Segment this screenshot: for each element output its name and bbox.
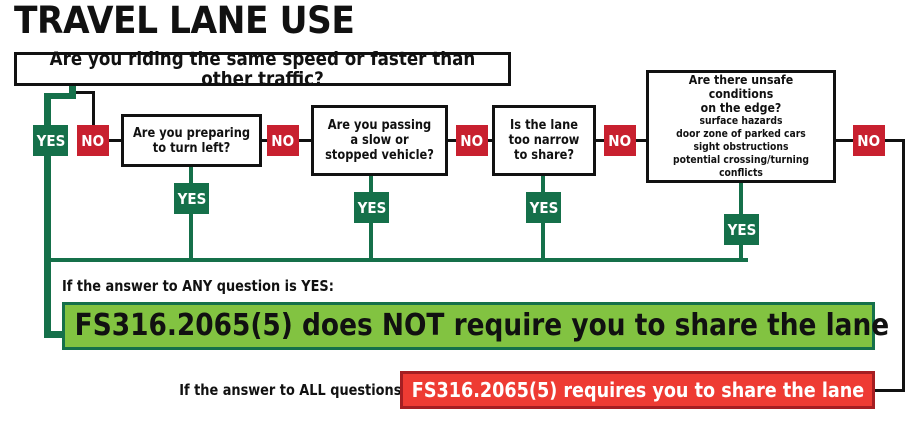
- flowchart-canvas: TRAVEL LANE USE Are you riding the same …: [0, 0, 920, 431]
- no-badge-unsafe-conditions[interactable]: NO: [853, 125, 885, 156]
- yes-badge-unsafe-conditions[interactable]: YES: [724, 214, 759, 245]
- unsafe-heading-line2: on the edge?: [660, 101, 822, 115]
- no-badge-label: NO: [858, 132, 881, 150]
- connector-right-rail-to-red-banner: [872, 389, 905, 392]
- connector-q4-to-no4: [834, 139, 855, 142]
- outcome-banner-required: FS316.2065(5) requires you to share the …: [400, 371, 875, 409]
- no-badge-label: NO: [609, 132, 632, 150]
- no-badge-label: NO: [461, 132, 484, 150]
- outcome-text-not-required: FS316.2065(5) does NOT require you to sh…: [65, 310, 889, 342]
- question-text-lane-narrow-line1: Is the lane: [501, 118, 587, 133]
- no-badge-lane-narrow[interactable]: NO: [604, 125, 636, 156]
- no-badge-speed[interactable]: NO: [77, 125, 109, 156]
- no-badge-passing[interactable]: NO: [456, 125, 488, 156]
- unsafe-heading-line1: Are there unsafe conditions: [660, 73, 822, 101]
- yes-badge-lane-narrow[interactable]: YES: [526, 192, 561, 223]
- question-box-lane-narrow[interactable]: Is the lane too narrow to share?: [492, 105, 596, 176]
- question-text-turn-left-line1: Are you preparing: [132, 126, 251, 141]
- no-badge-label: NO: [272, 132, 295, 150]
- question-text-passing-line2: a slow or: [322, 133, 437, 148]
- yes-badge-speed[interactable]: YES: [33, 125, 68, 156]
- question-text-turn-left-line2: to turn left?: [132, 141, 251, 156]
- outcome-banner-not-required: FS316.2065(5) does NOT require you to sh…: [62, 302, 875, 350]
- question-text-passing-line1: Are you passing: [322, 118, 437, 133]
- unsafe-item-1: door zone of parked cars: [660, 128, 822, 141]
- yes-badge-label: YES: [727, 221, 756, 239]
- question-box-turn-left[interactable]: Are you preparing to turn left?: [121, 114, 262, 167]
- yes-badge-passing[interactable]: YES: [354, 192, 389, 223]
- question-text-speed: Are you riding the same speed or faster …: [46, 49, 478, 89]
- question-text-lane-narrow-line3: to share?: [501, 148, 587, 163]
- question-box-unsafe-conditions[interactable]: Are there unsafe conditions on the edge?…: [646, 70, 836, 183]
- question-box-speed[interactable]: Are you riding the same speed or faster …: [14, 52, 511, 86]
- all-no-label: If the answer to ALL questions is NO:: [179, 380, 420, 400]
- yes-badge-turn-left[interactable]: YES: [174, 183, 209, 214]
- question-text-passing-line3: stopped vehicle?: [322, 148, 437, 163]
- yes-badge-label: YES: [529, 199, 558, 217]
- question-box-passing[interactable]: Are you passing a slow or stopped vehicl…: [311, 105, 448, 176]
- no-badge-label: NO: [82, 132, 105, 150]
- page-title: TRAVEL LANE USE: [14, 0, 572, 44]
- unsafe-item-3: potential crossing/turning conflicts: [660, 154, 822, 180]
- question-text-lane-narrow-line2: too narrow: [501, 133, 587, 148]
- yes-collector-horizontal: [44, 258, 748, 262]
- no-badge-turn-left[interactable]: NO: [267, 125, 299, 156]
- unsafe-item-0: surface hazards: [660, 115, 822, 128]
- any-yes-label: If the answer to ANY question is YES:: [62, 276, 423, 296]
- unsafe-item-2: sight obstructions: [660, 141, 822, 154]
- outcome-text-required: FS316.2065(5) requires you to share the …: [403, 379, 864, 401]
- yes-badge-label: YES: [357, 199, 386, 217]
- yes-badge-label: YES: [177, 190, 206, 208]
- yes-badge-label: YES: [36, 132, 65, 150]
- connector-right-rail-vertical: [902, 139, 905, 392]
